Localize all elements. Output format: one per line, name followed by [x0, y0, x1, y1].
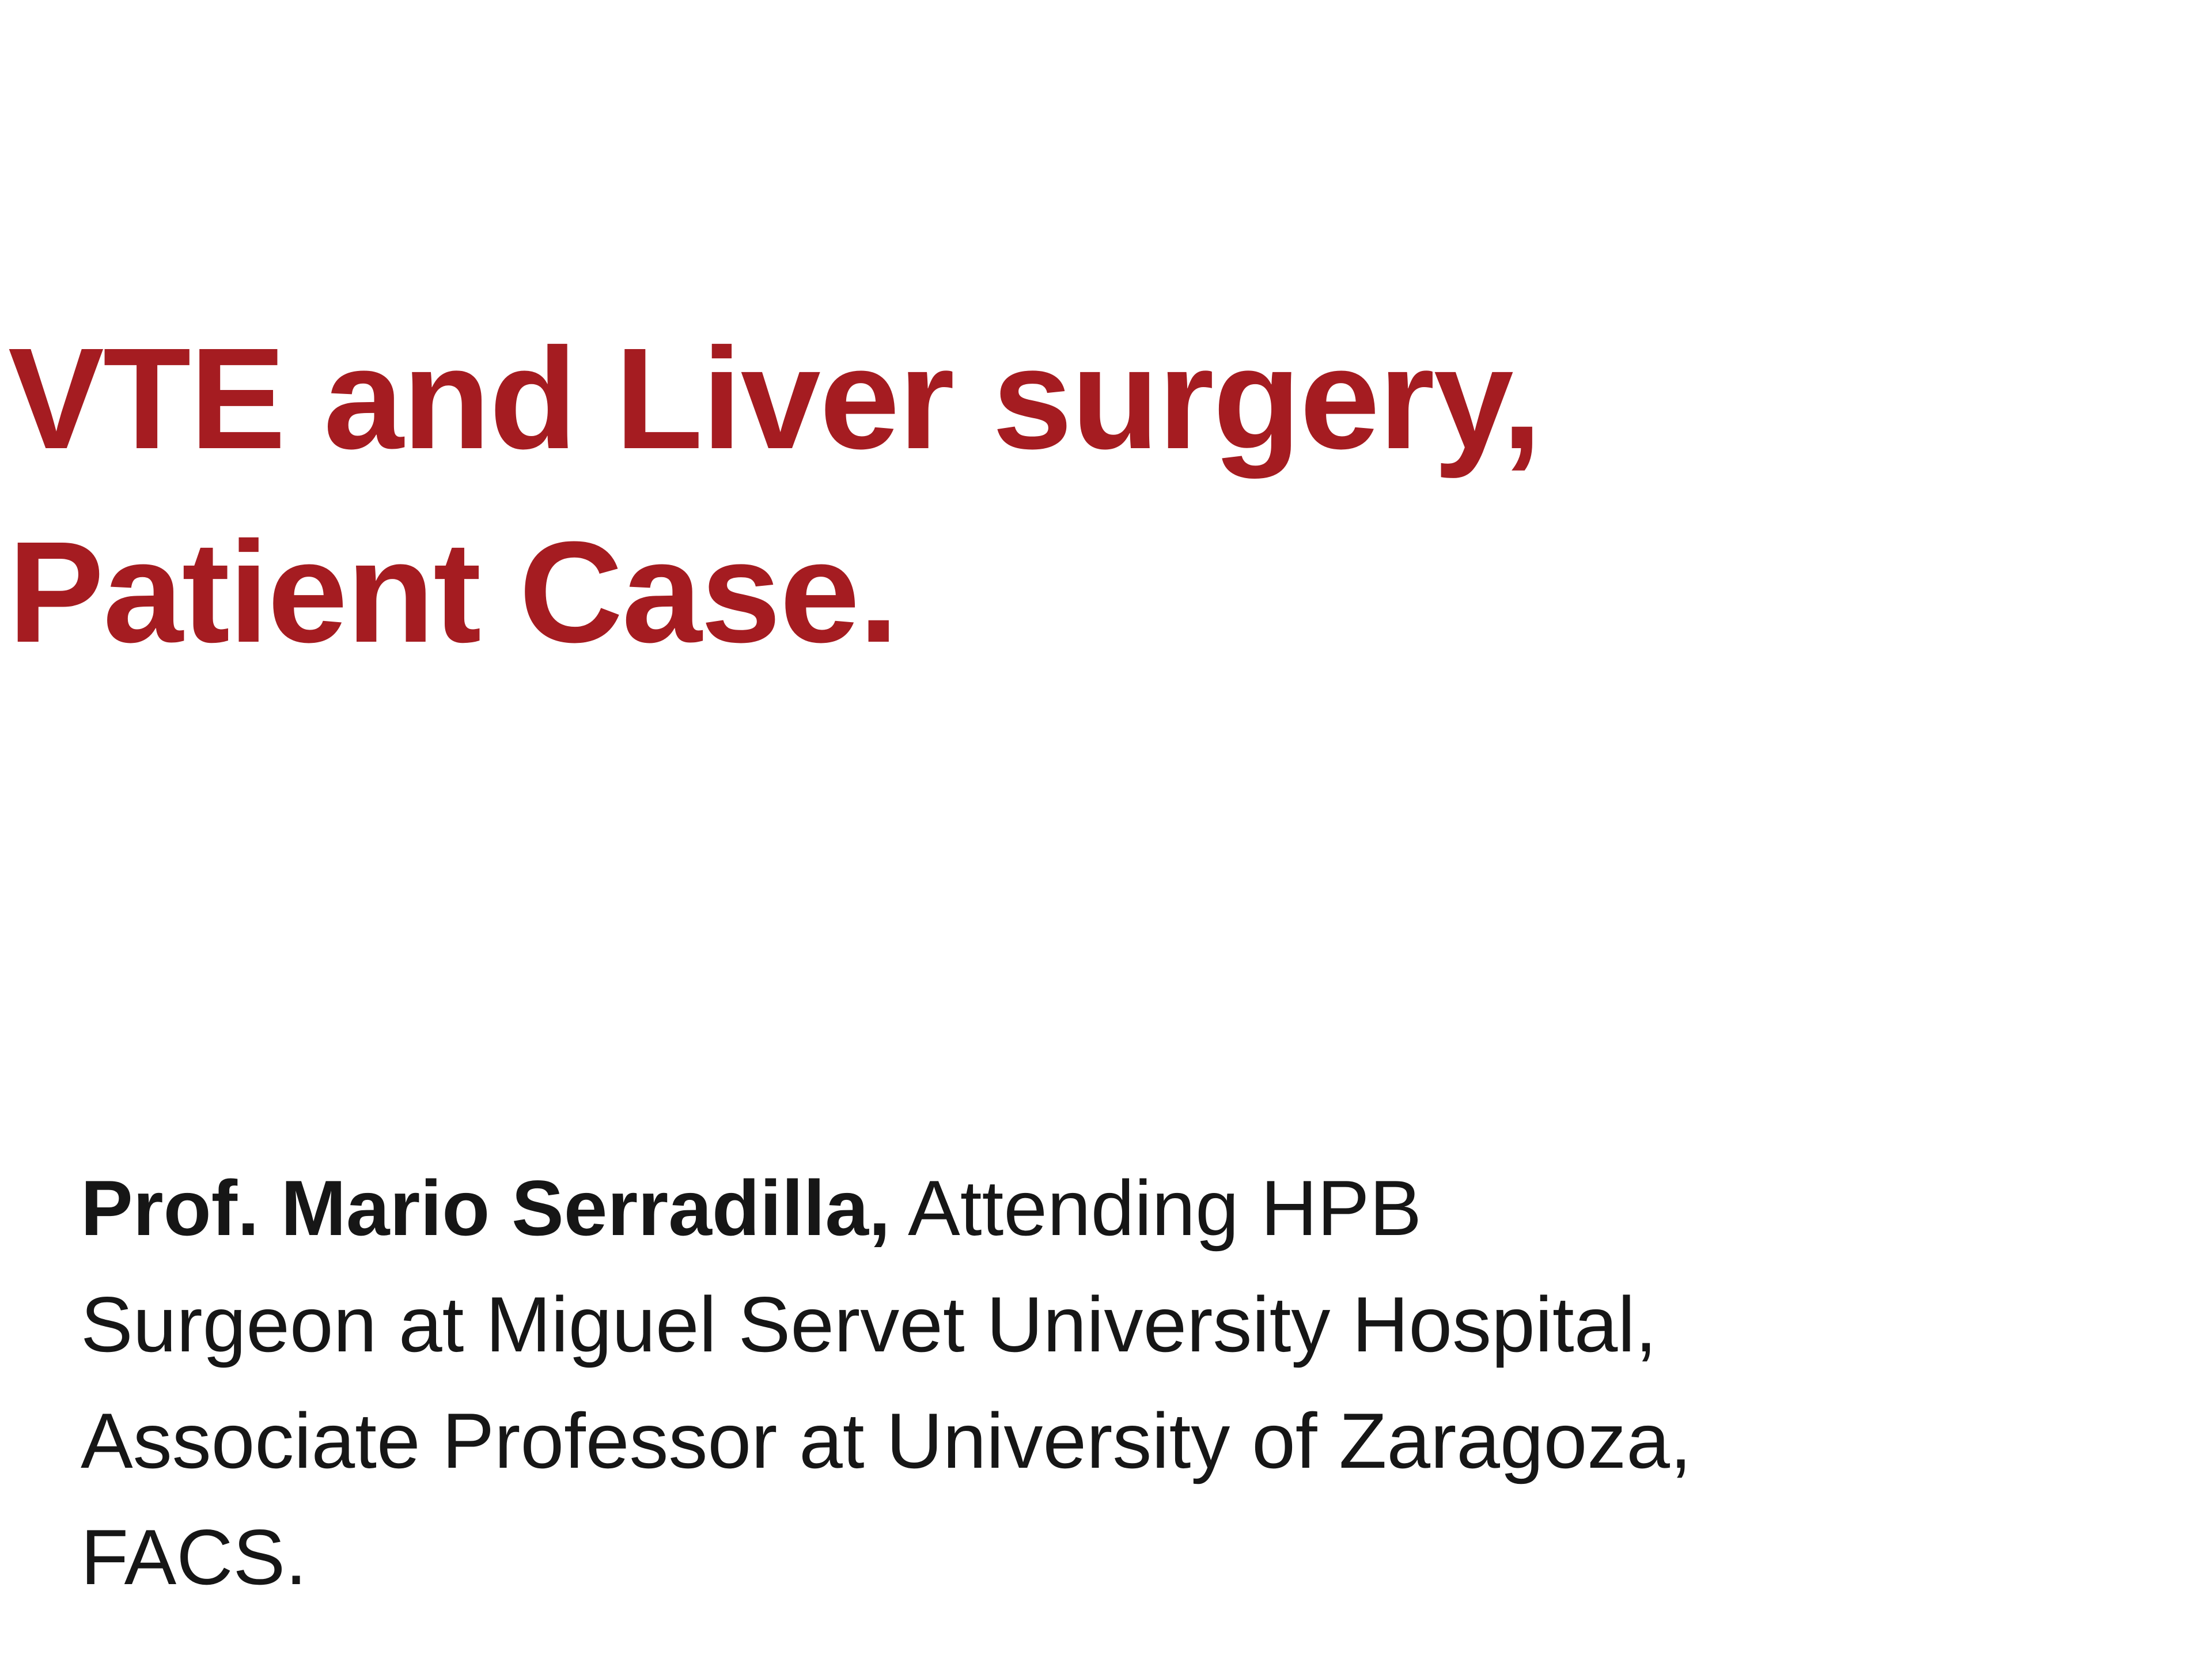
title-line-1: VTE and Liver surgery, — [8, 302, 2212, 495]
presenter-credentials: Prof. Mario Serradilla, Attending HPB Su… — [81, 1150, 2212, 1615]
title-line-2: Patient Case. — [8, 495, 2212, 689]
presenter-role: Attending HPB — [891, 1164, 1422, 1252]
presenter-line-2: Surgeon at Miguel Servet University Hosp… — [81, 1266, 2212, 1382]
presentation-slide: VTE and Liver surgery, Patient Case. Pro… — [0, 0, 2212, 1659]
presenter-line-3: Associate Professor at University of Zar… — [81, 1382, 2212, 1499]
slide-title: VTE and Liver surgery, Patient Case. — [8, 302, 2212, 689]
presenter-line-4: FACS. — [81, 1499, 2212, 1615]
presenter-name: Prof. Mario Serradilla, — [81, 1164, 891, 1252]
presenter-line-1: Prof. Mario Serradilla, Attending HPB — [81, 1150, 2212, 1266]
